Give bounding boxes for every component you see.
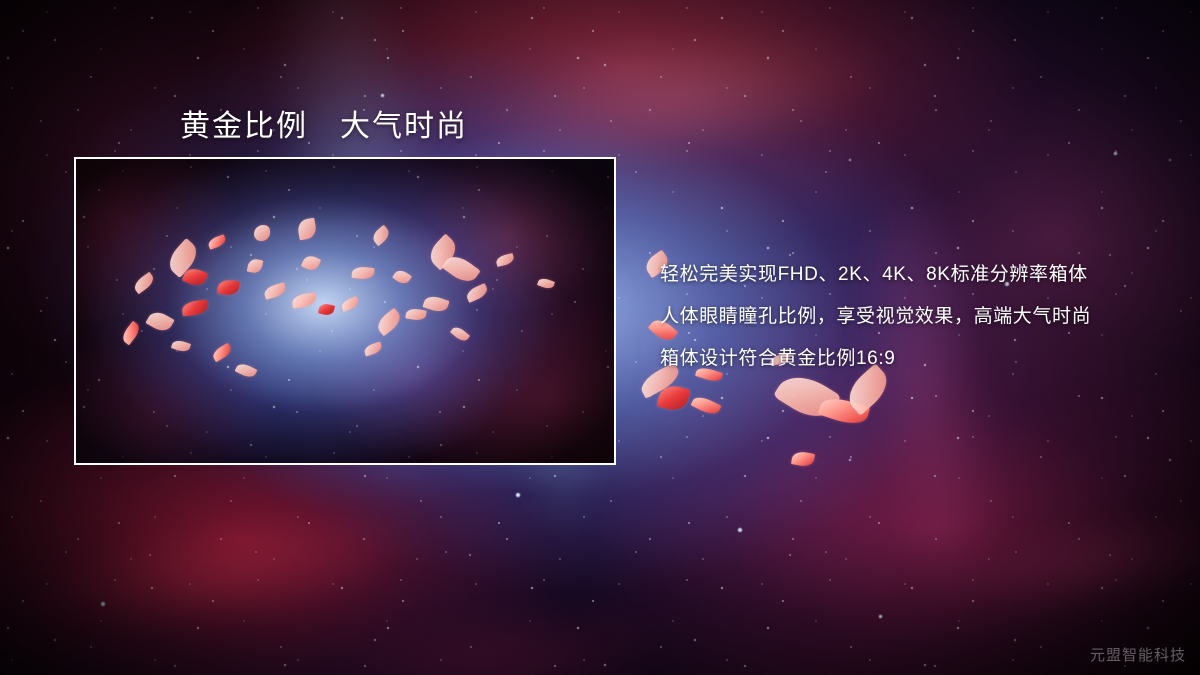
body-line: 人体眼睛瞳孔比例，享受视觉效果，高端大气时尚 [660, 296, 1180, 338]
presentation-slide: 黄金比例 大气时尚 轻松完美实现FHD、2K、4K、8K标准分辨率箱体 人体眼睛… [0, 0, 1200, 675]
page-title: 黄金比例 大气时尚 [180, 101, 468, 145]
body-text-block: 轻松完美实现FHD、2K、4K、8K标准分辨率箱体 人体眼睛瞳孔比例，享受视觉效… [660, 254, 1180, 380]
body-line: 箱体设计符合黄金比例16:9 [660, 338, 1180, 380]
watermark: 元盟智能科技 [1090, 644, 1186, 665]
image-preview-frame [74, 157, 616, 465]
body-line: 轻松完美实现FHD、2K、4K、8K标准分辨率箱体 [660, 254, 1180, 296]
